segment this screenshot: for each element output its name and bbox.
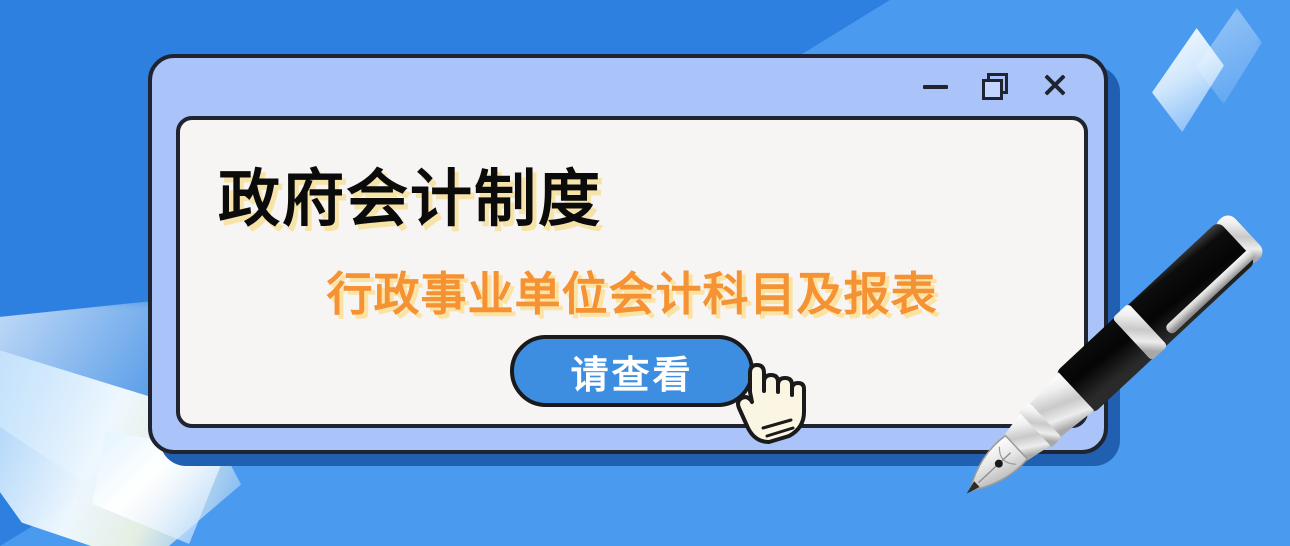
content-panel: 政府会计制度 行政事业单位会计科目及报表 请查看 [176,116,1088,428]
minimize-icon[interactable] [920,70,950,100]
page-title: 政府会计制度 [218,148,602,238]
window-frame: 政府会计制度 行政事业单位会计科目及报表 请查看 [148,54,1108,454]
page-subtitle: 行政事业单位会计科目及报表 [180,258,1084,324]
close-icon[interactable] [1040,70,1070,100]
window-titlebar [152,58,1104,112]
cta-container: 请查看 [180,335,1084,407]
restore-icon[interactable] [980,70,1010,100]
view-button[interactable]: 请查看 [510,335,754,407]
banner-canvas: 政府会计制度 行政事业单位会计科目及报表 请查看 [0,0,1290,546]
